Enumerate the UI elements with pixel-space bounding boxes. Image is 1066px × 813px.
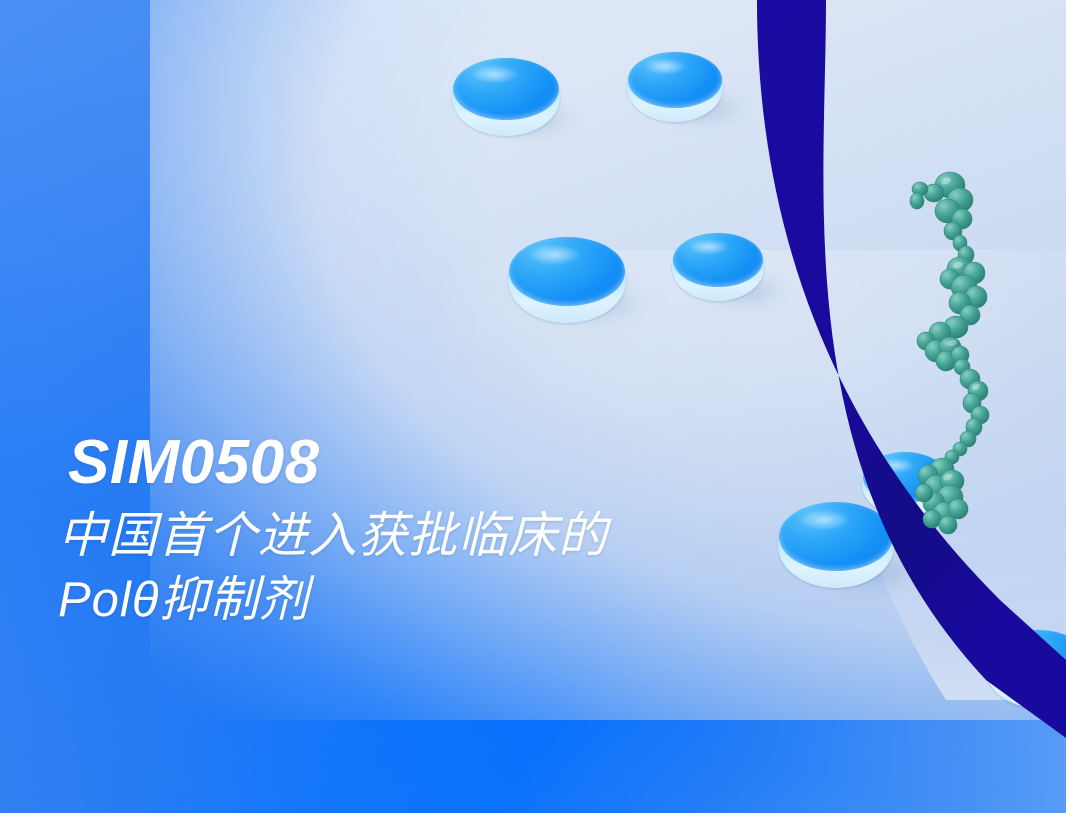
blue-tablet — [508, 237, 626, 323]
tablet-gloss — [872, 456, 920, 475]
subtitle-line-2: Polθ抑制剂 — [58, 569, 878, 633]
tablet-gloss — [465, 63, 525, 86]
subtitle-line-1: 中国首个进入获批临床的 — [58, 505, 878, 569]
tablet-gloss — [522, 242, 588, 268]
blue-tablet — [672, 233, 764, 301]
poster-canvas: SIM0508 中国首个进入获批临床的 Polθ抑制剂 — [0, 0, 1066, 813]
blue-tablet — [627, 52, 723, 122]
page-title: SIM0508 — [68, 430, 878, 495]
blue-tablet — [452, 58, 560, 136]
tablet-gloss — [998, 635, 1056, 658]
page-subtitle: 中国首个进入获批临床的 Polθ抑制剂 — [58, 505, 878, 632]
title-block: SIM0508 中国首个进入获批临床的 Polθ抑制剂 — [58, 430, 878, 632]
